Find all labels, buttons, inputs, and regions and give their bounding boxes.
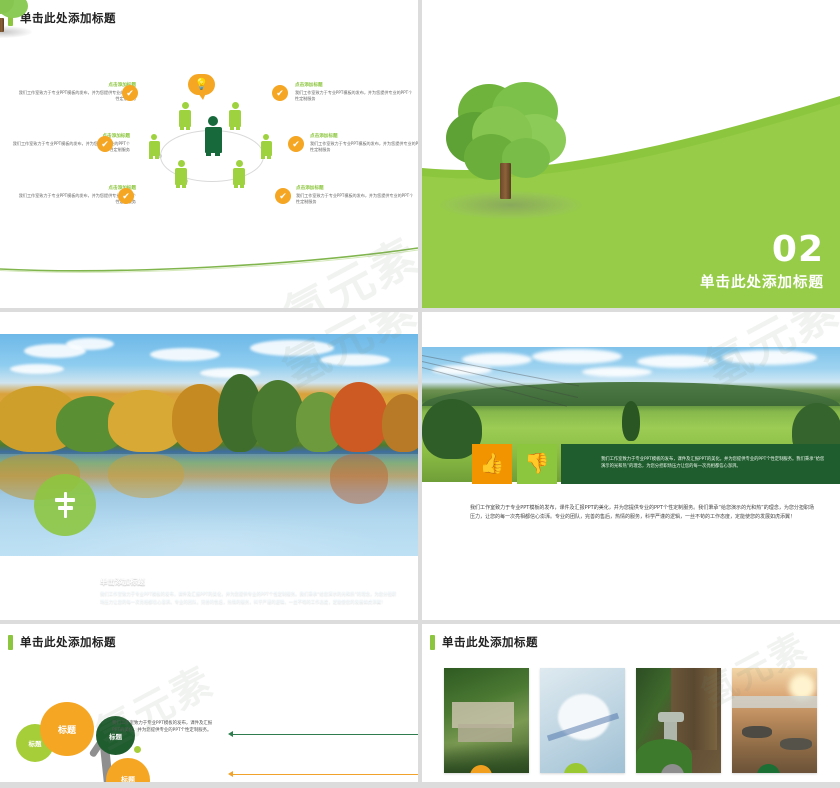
- photo-thumbnail[interactable]: [540, 668, 625, 773]
- photo-caption-block: 单击添加标题 我们工作室致力于专业PPT模板的发布，课件及汇报PPT的美化，并为…: [100, 576, 400, 606]
- header-accent-bar: [8, 635, 13, 650]
- bullet-item[interactable]: 点击添加标题 我们工作室致力于专业PPT模板的发布，并为您提供专业的PPT个性定…: [310, 133, 418, 153]
- bullet-title: 点击添加标题: [295, 82, 413, 88]
- arrow-green: [232, 734, 418, 735]
- photo-thumbnail[interactable]: [444, 668, 529, 773]
- bubble-dot: [134, 746, 141, 753]
- page-title: 单击此处添加标题: [20, 634, 116, 650]
- section-number: 02: [772, 232, 824, 268]
- bullet-title: 点击添加标题: [18, 82, 136, 88]
- thumbs-down-button[interactable]: 👎: [517, 444, 557, 484]
- highlight-panel: 我们工作室致力于专业PPT模板的发布，课件及汇报PPT的美化，并为您提供专业的P…: [561, 444, 840, 484]
- person-figure: [258, 134, 274, 156]
- bullet-body: 我们工作室致力于专业PPT模板的发布，并为您提供专业的PPT个性定制服务: [18, 90, 136, 103]
- slide-thumbnail-grid: 单击此处添加标题 点击添加标题 我们工作室致力于专业PPT模板的发布，并为您提供…: [0, 0, 840, 788]
- person-figure-leader: [201, 116, 225, 153]
- thumbnail-dots: [732, 761, 817, 773]
- page-title: 单击此处添加标题: [442, 634, 538, 650]
- check-icon: ✔: [122, 85, 138, 101]
- bubble-label: 标题: [29, 738, 42, 748]
- bullet-item[interactable]: 点击添加标题 我们工作室致力于专业PPT模板的发布，并为您提供专业的PPT个性定…: [18, 82, 136, 102]
- section-subtitle: 单击此处添加标题: [700, 271, 824, 292]
- caption-body: 我们工作室致力于专业PPT模板的发布，课件及汇报PPT的美化，并为您提供专业的P…: [100, 591, 400, 606]
- slide-lake-photo[interactable]: 单击添加标题 我们工作室致力于专业PPT模板的发布，课件及汇报PPT的美化，并为…: [0, 312, 418, 620]
- signpost-icon: [53, 492, 77, 518]
- bullet-body: 我们工作室致力于专业PPT模板的发布，并为您提供专业的PPT个性定制服务: [296, 193, 414, 206]
- bubble-label: 标题: [121, 775, 135, 782]
- person-figure: [230, 160, 248, 185]
- thumbnail-dots: [636, 761, 721, 773]
- body-paragraph: 我们工作室致力于专业PPT模板的发布，课件及汇报PPT的美化，并为您提供专业的P…: [112, 720, 217, 735]
- ground-curve: [0, 242, 418, 274]
- bullet-title: 点击添加标题: [18, 185, 136, 191]
- body-paragraph: 我们工作室致力于专业PPT模板的发布，课件及汇报PPT的美化，并为您提供专业的P…: [470, 504, 814, 522]
- photo-thumbnail[interactable]: [732, 668, 817, 773]
- slide-team-diagram[interactable]: 单击此处添加标题 点击添加标题 我们工作室致力于专业PPT模板的发布，并为您提供…: [0, 0, 418, 308]
- people-network-diagram: 💡: [140, 78, 280, 213]
- slide-header: 单击此处添加标题: [430, 634, 538, 650]
- bullet-title: 点击添加标题: [310, 133, 418, 139]
- thumbnail-dots: [444, 761, 529, 773]
- arrow-orange-head: [228, 771, 233, 777]
- signpost-badge[interactable]: [34, 474, 96, 536]
- person-figure: [172, 160, 190, 185]
- slide-photo-grid[interactable]: 单击此处添加标题: [422, 624, 840, 782]
- slide-bubble-tree[interactable]: 单击此处添加标题 标题 标题 标题 标题 我们工作室致力于专业PPT模板的发布，…: [0, 624, 418, 782]
- check-icon: ✔: [97, 136, 113, 152]
- bubble-node[interactable]: 标题: [40, 702, 94, 756]
- bubble-label: 标题: [58, 723, 76, 736]
- lightbulb-icon: 💡: [195, 79, 209, 90]
- bubble-node[interactable]: 标题: [106, 758, 150, 782]
- photo-thumbnail[interactable]: [636, 668, 721, 773]
- header-accent-bar: [430, 635, 435, 650]
- panel-text: 我们工作室致力于专业PPT模板的发布，课件及汇报PPT的美化，并为您提供专业的P…: [561, 457, 840, 471]
- check-icon: ✔: [288, 136, 304, 152]
- photo-thumbnail-row: [444, 668, 817, 773]
- slide-section-divider[interactable]: 02 单击此处添加标题: [422, 0, 840, 308]
- slide-header: 单击此处添加标题: [8, 634, 116, 650]
- tree-illustration: [0, 0, 32, 34]
- person-figure: [226, 102, 244, 127]
- slide-field-photo[interactable]: 👍 👎 我们工作室致力于专业PPT模板的发布，课件及汇报PPT的美化，并为您提供…: [422, 312, 840, 620]
- arrow-green-head: [228, 731, 233, 737]
- arrow-orange: [232, 774, 418, 775]
- bullet-body: 我们工作室致力于专业PPT模板的发布，并为您提供专业的PPT个性定制服务: [295, 90, 413, 103]
- person-figure: [176, 102, 194, 127]
- bullet-title: 点击添加标题: [12, 133, 130, 139]
- thumbnail-dots: [540, 761, 625, 773]
- bullet-item[interactable]: 点击添加标题 我们工作室致力于专业PPT模板的发布，并为您提供专业的PPT个性定…: [295, 82, 413, 102]
- bullet-title: 点击添加标题: [296, 185, 414, 191]
- bullet-body: 我们工作室致力于专业PPT模板的发布，并为您提供专业的PPT个性定制服务: [310, 141, 418, 154]
- caption-title: 单击添加标题: [100, 576, 400, 587]
- idea-bubble-icon: 💡: [188, 74, 215, 95]
- bullet-item[interactable]: 点击添加标题 我们工作室致力于专业PPT模板的发布，并为您提供专业的PPT个性定…: [296, 185, 414, 205]
- check-icon: ✔: [118, 188, 134, 204]
- person-figure: [146, 134, 162, 156]
- tree-illustration: [444, 82, 572, 207]
- page-title: 单击此处添加标题: [20, 10, 116, 26]
- thumbs-up-button[interactable]: 👍: [472, 444, 512, 484]
